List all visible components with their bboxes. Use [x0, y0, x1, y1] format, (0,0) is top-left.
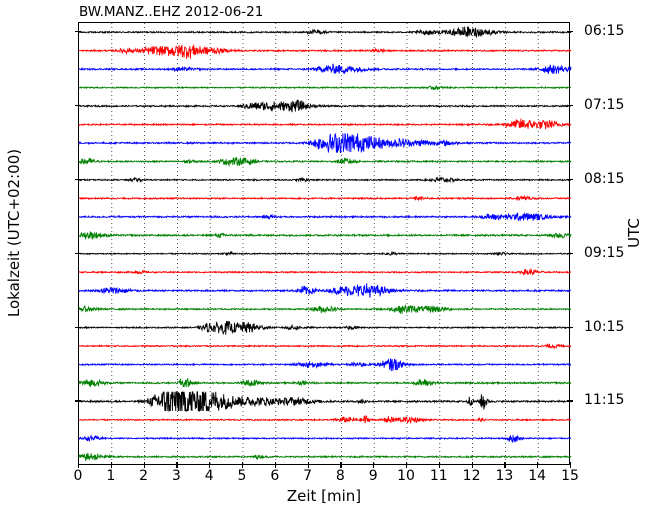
y-tick-mark-left — [75, 327, 81, 328]
x-tick-mark — [373, 462, 374, 468]
x-tick-label: 15 — [550, 468, 590, 484]
x-tick-mark — [406, 462, 407, 468]
waveform-trace — [79, 27, 571, 38]
waveform-trace — [79, 392, 571, 411]
waveform-trace — [79, 269, 571, 274]
waveform-trace — [79, 231, 571, 239]
plot-title: BW.MANZ..EHZ 2012-06-21 — [79, 4, 263, 20]
waveform-trace — [79, 321, 571, 335]
x-tick-mark — [472, 462, 473, 468]
y-tick-mark-right — [567, 400, 573, 401]
waveform-trace — [79, 119, 571, 129]
waveform-trace — [79, 453, 571, 460]
x-tick-mark — [144, 462, 145, 468]
waveform-trace — [79, 358, 571, 371]
waveform-trace — [79, 344, 571, 349]
y-axis-label-left: Lokalzeit (UTC+02:00) — [5, 3, 23, 463]
x-tick-mark — [209, 462, 210, 468]
x-tick-mark — [504, 462, 505, 468]
y-tick-mark-right — [567, 327, 573, 328]
waveform-trace — [79, 45, 571, 59]
x-tick-mark — [340, 462, 341, 468]
waveform-trace — [79, 378, 571, 387]
y-tick-label-right: 09:15 — [584, 245, 650, 261]
y-tick-mark-left — [75, 179, 81, 180]
waveform-trace — [79, 177, 571, 181]
waveform-trace — [79, 86, 571, 89]
y-tick-mark-left — [75, 105, 81, 106]
waveform-trace — [79, 305, 571, 313]
x-tick-mark — [275, 462, 276, 468]
y-tick-mark-right — [567, 179, 573, 180]
waveform-trace — [79, 133, 571, 152]
plot-area — [78, 22, 570, 465]
y-tick-label-right: 11:15 — [584, 392, 650, 408]
x-tick-mark — [537, 462, 538, 468]
x-tick-mark — [242, 462, 243, 468]
waveform-trace — [79, 252, 571, 255]
y-tick-label-right: 06:15 — [584, 23, 650, 39]
x-tick-mark — [176, 462, 177, 468]
x-tick-mark — [570, 462, 571, 468]
x-tick-mark — [111, 462, 112, 468]
y-tick-mark-right — [567, 105, 573, 106]
y-tick-mark-left — [75, 253, 81, 254]
y-tick-mark-left — [75, 31, 81, 32]
waveform-trace — [79, 100, 571, 112]
x-tick-mark — [439, 462, 440, 468]
waveform-traces — [79, 23, 571, 466]
seismogram-figure: BW.MANZ..EHZ 2012-06-21 Lokalzeit (UTC+0… — [0, 0, 650, 520]
waveform-trace — [79, 213, 571, 221]
waveform-trace — [79, 283, 571, 297]
x-tick-mark — [78, 462, 79, 468]
waveform-trace — [79, 435, 571, 443]
waveform-trace — [79, 415, 571, 423]
waveform-trace — [79, 196, 571, 200]
y-tick-label-right: 10:15 — [584, 319, 650, 335]
y-tick-mark-right — [567, 253, 573, 254]
waveform-trace — [79, 64, 571, 74]
waveform-trace — [79, 157, 571, 165]
x-tick-mark — [308, 462, 309, 468]
y-tick-label-right: 07:15 — [584, 97, 650, 113]
y-tick-mark-left — [75, 400, 81, 401]
x-axis-label: Zeit [min] — [78, 487, 570, 505]
y-tick-label-right: 08:15 — [584, 171, 650, 187]
y-tick-mark-right — [567, 31, 573, 32]
